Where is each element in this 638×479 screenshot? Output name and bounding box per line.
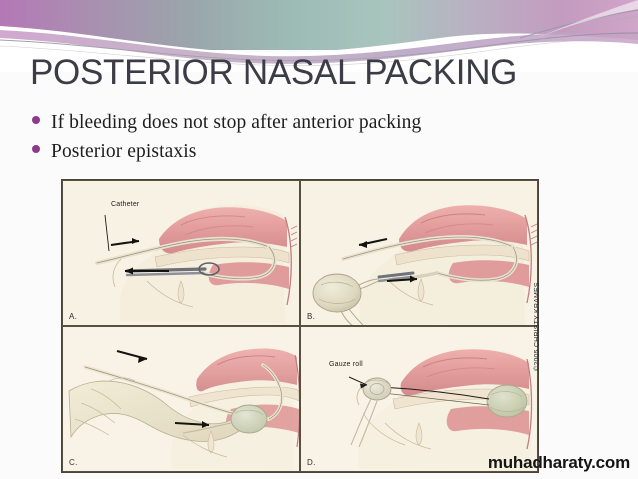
- bullet-list: If bleeding does not stop after anterior…: [32, 110, 592, 167]
- illustration-panel-b: B.: [300, 180, 538, 326]
- bullet-item: Posterior epistaxis: [32, 139, 592, 165]
- site-watermark: muhadharaty.com: [488, 453, 630, 473]
- illustration-grid: Catheter A.: [61, 179, 539, 473]
- bullet-dot-icon: [32, 145, 40, 153]
- presentation-slide: POSTERIOR NASAL PACKING If bleeding does…: [0, 0, 638, 479]
- panel-letter-a: A.: [69, 312, 77, 321]
- slide-title: POSTERIOR NASAL PACKING: [30, 53, 517, 93]
- annotation-gauze-roll: Gauze roll: [329, 361, 363, 368]
- copyright-credit: ©2005 CHRISTY KRAMES: [534, 285, 541, 371]
- illustration-panel-d: Gauze roll D.: [300, 326, 538, 472]
- bullet-dot-icon: [32, 116, 40, 124]
- panel-letter-d: D.: [307, 458, 316, 467]
- bullet-text: If bleeding does not stop after anterior…: [51, 110, 421, 136]
- panel-letter-c: C.: [69, 458, 78, 467]
- bullet-item: If bleeding does not stop after anterior…: [32, 110, 592, 136]
- illustration-panel-c: C.: [62, 326, 300, 472]
- annotation-catheter: Catheter: [111, 201, 139, 208]
- bullet-text: Posterior epistaxis: [51, 139, 196, 165]
- illustration-panel-a: Catheter A.: [62, 180, 300, 326]
- panel-letter-b: B.: [307, 312, 315, 321]
